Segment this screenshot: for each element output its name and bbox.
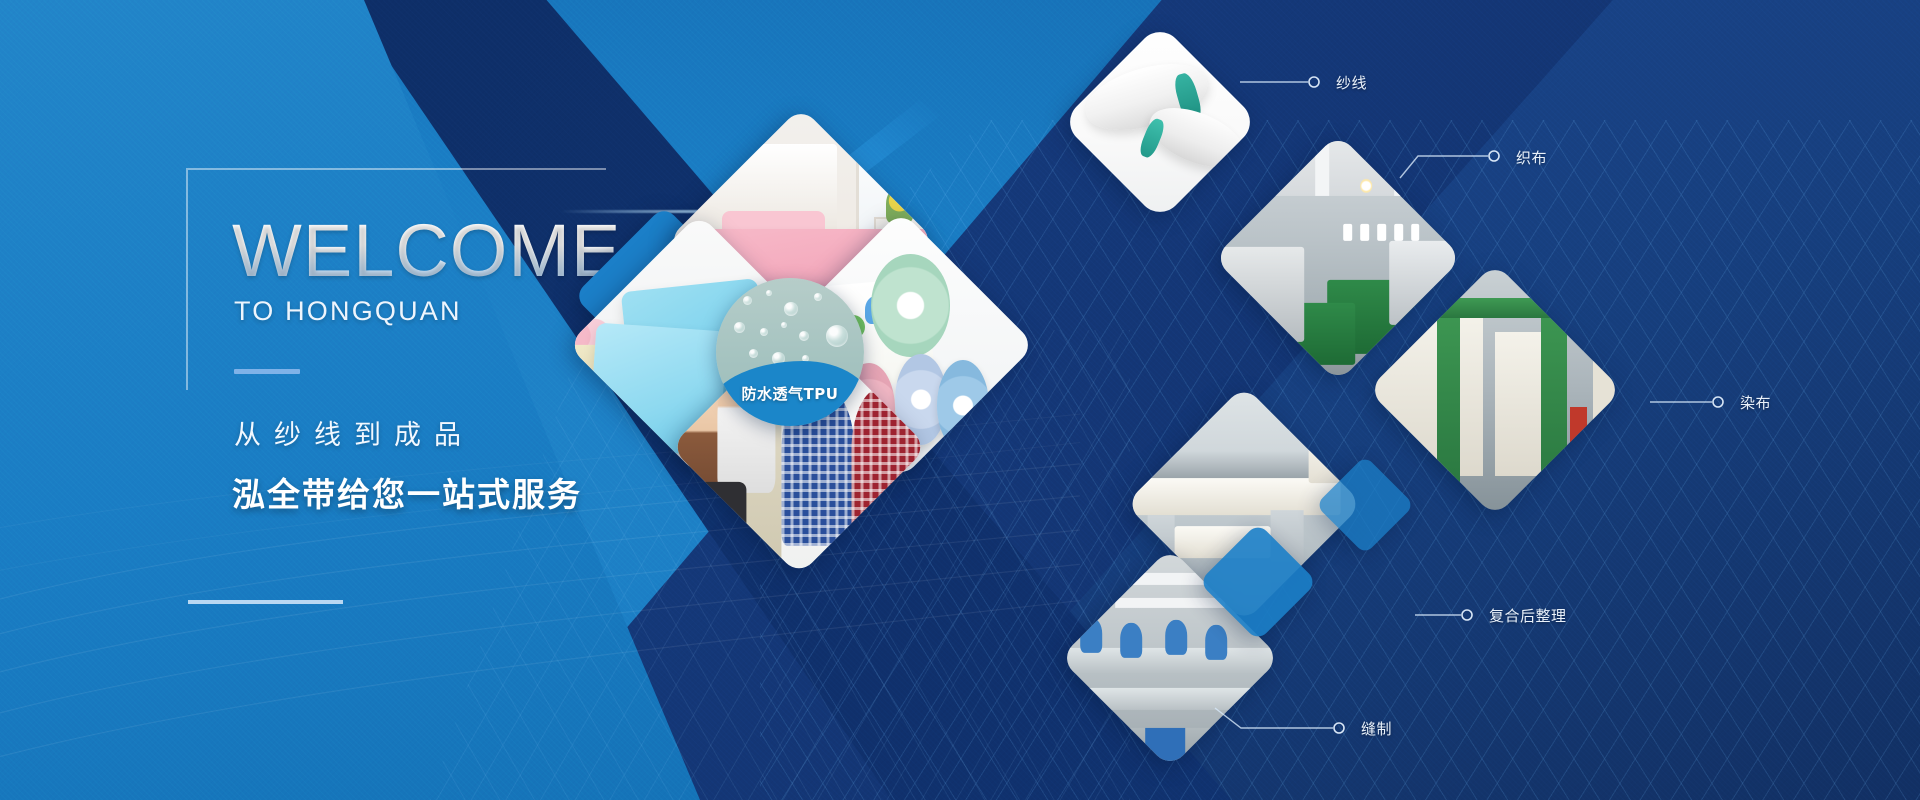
page-subtitle: TO HONGQUAN — [234, 296, 462, 327]
feature-badge-label: 防水透气TPU — [716, 383, 864, 404]
accent-rule-long — [188, 600, 343, 604]
callout-label-weaving: 织布 — [1516, 147, 1547, 168]
callout-sewing: 缝制 — [1215, 700, 1475, 750]
callout-label-sewing: 缝制 — [1361, 718, 1392, 739]
page-title: WELCOME — [232, 214, 621, 288]
callout-finishing: 复合后整理 — [1415, 595, 1695, 635]
tagline-chinese: 从纱线到成品 — [234, 413, 474, 452]
callout-label-finishing: 复合后整理 — [1489, 605, 1567, 626]
callout-label-dyeing: 染布 — [1740, 392, 1771, 413]
accent-rule-short — [234, 369, 300, 374]
callout-dyeing: 染布 — [1650, 380, 1910, 420]
callout-label-yarn: 纱线 — [1336, 72, 1367, 93]
callout-leader-line-sewing — [1215, 700, 1475, 750]
headline-chinese: 泓全带给您一站式服务 — [232, 468, 582, 516]
hero-banner: WELCOME TO HONGQUAN 从纱线到成品 泓全带给您一站式服务 — [0, 0, 1920, 800]
callout-leader-line-dyeing — [1650, 380, 1910, 420]
callout-weaving: 织布 — [1400, 142, 1650, 192]
feature-badge[interactable]: 防水透气TPU — [716, 278, 864, 426]
callout-yarn: 纱线 — [1240, 60, 1480, 100]
